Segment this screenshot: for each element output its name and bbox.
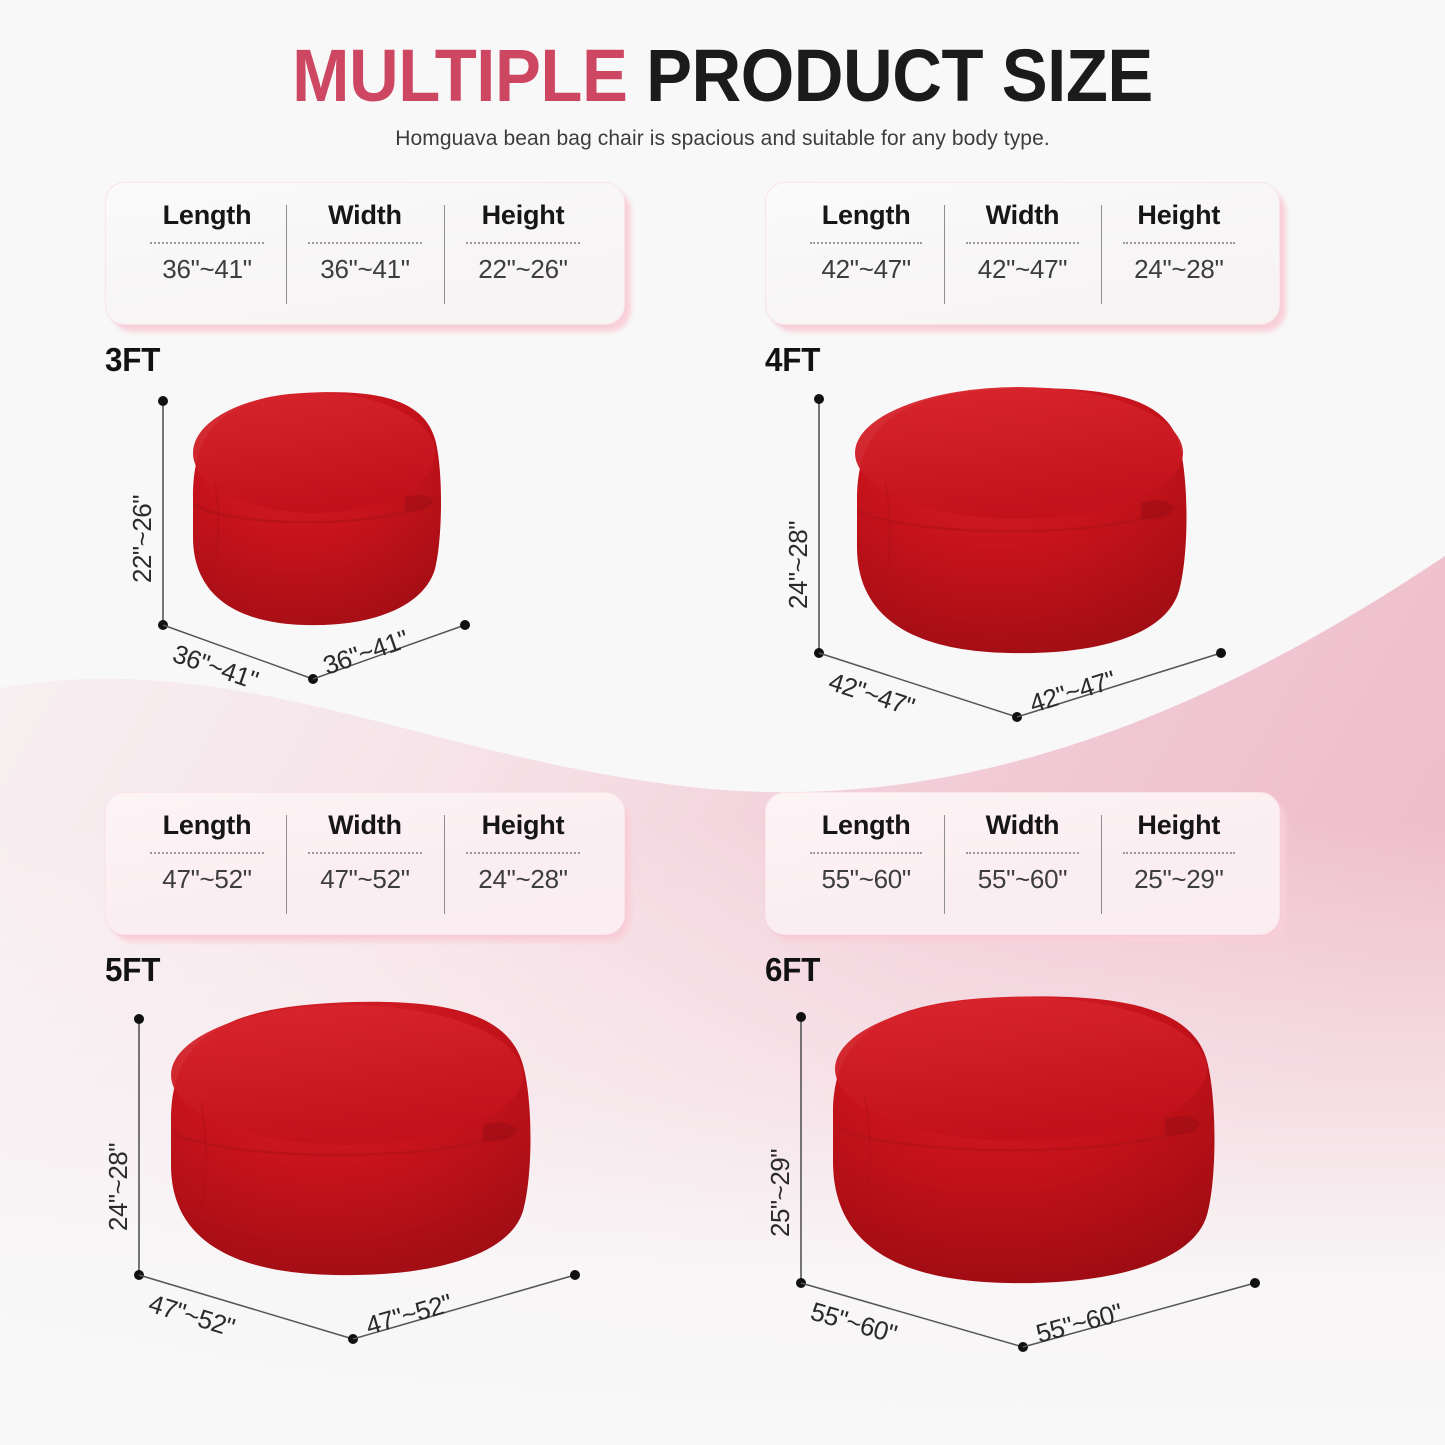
- product-panel-4ft: Length 42"~47" Width 42"~47" Height 24"~…: [765, 182, 1425, 752]
- spec-header-width: Width: [986, 811, 1060, 841]
- spec-header-height: Height: [1137, 811, 1220, 841]
- size-label-3ft: 3FT: [105, 341, 713, 379]
- spec-divider-dotted: [308, 852, 422, 854]
- spec-table-3ft: Length 36"~41" Width 36"~41" Height 22"~…: [105, 182, 625, 325]
- spec-column-height: Height 24"~28": [444, 811, 602, 918]
- dimension-line-width: 55"~60": [1023, 1278, 1260, 1349]
- dimension-label-height: 22"~26": [127, 495, 157, 583]
- spec-header-width: Width: [328, 201, 402, 231]
- spec-column-length: Length 42"~47": [788, 201, 944, 308]
- product-diagram-5ft: 24"~28" 47"~52" 47"~52": [105, 997, 745, 1357]
- dimension-line-width: 42"~47": [1017, 648, 1226, 719]
- spec-header-width: Width: [986, 201, 1060, 231]
- size-label-4ft: 4FT: [765, 341, 1392, 379]
- spec-divider-dotted: [810, 852, 923, 854]
- spec-header-height: Height: [482, 201, 565, 231]
- dimension-line-width: 47"~52": [353, 1270, 580, 1341]
- spec-column-width: Width 55"~60": [944, 811, 1100, 918]
- product-panel-3ft: Length 36"~41" Width 36"~41" Height 22"~…: [105, 182, 745, 742]
- spec-divider-dotted: [1123, 242, 1236, 244]
- spec-column-height: Height 24"~28": [1101, 201, 1257, 308]
- spec-divider-dotted: [308, 242, 422, 244]
- spec-column-width: Width 42"~47": [944, 201, 1100, 308]
- spec-table-card: Length 42"~47" Width 42"~47" Height 24"~…: [765, 182, 1280, 325]
- spec-header-height: Height: [482, 811, 565, 841]
- title-highlight: MULTIPLE: [292, 34, 627, 117]
- dimension-line-height: 25"~29": [765, 1012, 806, 1288]
- spec-divider-dotted: [1123, 852, 1236, 854]
- spec-value-width: 42"~47": [978, 254, 1067, 285]
- spec-table-card: Length 36"~41" Width 36"~41" Height 22"~…: [105, 182, 625, 325]
- spec-value-height: 24"~28": [478, 864, 567, 895]
- spec-column-height: Height 22"~26": [444, 201, 602, 308]
- spec-value-length: 47"~52": [162, 864, 251, 895]
- dimension-label-width: 42"~47": [1026, 664, 1119, 718]
- size-label-6ft: 6FT: [765, 951, 1392, 989]
- spec-column-width: Width 36"~41": [286, 201, 444, 308]
- spec-value-height: 24"~28": [1134, 254, 1223, 285]
- dimension-label-length: 42"~47": [825, 666, 918, 722]
- dimension-line-length: 42"~47": [819, 653, 1022, 722]
- spec-divider-dotted: [466, 242, 580, 244]
- spec-column-width: Width 47"~52": [286, 811, 444, 918]
- spec-value-length: 42"~47": [821, 254, 910, 285]
- spec-column-length: Length 47"~52": [128, 811, 286, 918]
- product-size-infographic: MULTIPLE PRODUCT SIZE Homguava bean bag …: [0, 0, 1445, 1445]
- dimension-label-width: 36"~41": [319, 624, 412, 681]
- dimension-line-length: 55"~60": [801, 1283, 1028, 1352]
- bean-bag-illustration: [171, 1002, 531, 1275]
- spec-table-6ft: Length 55"~60" Width 55"~60" Height 25"~…: [765, 792, 1280, 935]
- spec-value-width: 55"~60": [978, 864, 1067, 895]
- spec-divider-dotted: [966, 852, 1079, 854]
- spec-divider-dotted: [966, 242, 1079, 244]
- spec-value-length: 36"~41": [162, 254, 251, 285]
- spec-header-length: Length: [163, 201, 252, 231]
- page-subtitle: Homguava bean bag chair is spacious and …: [0, 127, 1445, 151]
- bean-bag-illustration: [193, 392, 441, 625]
- dimension-label-length: 47"~52": [145, 1288, 238, 1342]
- product-diagram-6ft: 25"~29" 55"~60" 55"~60": [765, 997, 1425, 1357]
- spec-table-card: Length 47"~52" Width 47"~52" Height 24"~…: [105, 792, 625, 935]
- dimension-label-height: 24"~28": [103, 1143, 133, 1231]
- spec-divider-dotted: [466, 852, 580, 854]
- spec-header-width: Width: [328, 811, 402, 841]
- spec-column-length: Length 36"~41": [128, 201, 286, 308]
- title-rest: PRODUCT SIZE: [646, 34, 1153, 117]
- dimension-label-height: 25"~29": [765, 1149, 795, 1237]
- product-diagram-3ft: 22"~26" 36"~41" 36"~41": [105, 387, 745, 717]
- product-diagram-4ft: 24"~28" 42"~47" 42"~47": [765, 387, 1425, 737]
- dimension-line-length: 47"~52": [139, 1275, 358, 1344]
- bean-bag-illustration: [855, 387, 1187, 653]
- dimension-label-length: 55"~60": [807, 1296, 900, 1349]
- spec-divider-dotted: [150, 242, 264, 244]
- spec-value-length: 55"~60": [821, 864, 910, 895]
- size-label-5ft: 5FT: [105, 951, 713, 989]
- dimension-label-length: 36"~41": [169, 638, 262, 695]
- page-title: MULTIPLE PRODUCT SIZE: [51, 38, 1395, 113]
- spec-table-card: Length 55"~60" Width 55"~60" Height 25"~…: [765, 792, 1280, 935]
- dimension-line-height: 22"~26": [127, 396, 168, 630]
- dimension-label-width: 55"~60": [1033, 1297, 1126, 1349]
- spec-column-length: Length 55"~60": [788, 811, 944, 918]
- spec-divider-dotted: [150, 852, 264, 854]
- dimension-line-width: 36"~41": [313, 620, 470, 681]
- spec-table-4ft: Length 42"~47" Width 42"~47" Height 24"~…: [765, 182, 1280, 325]
- spec-header-length: Length: [163, 811, 252, 841]
- spec-value-width: 47"~52": [320, 864, 409, 895]
- spec-divider-dotted: [810, 242, 923, 244]
- dimension-label-height: 24"~28": [783, 521, 813, 609]
- dimension-line-height: 24"~28": [103, 1014, 144, 1280]
- spec-header-length: Length: [822, 201, 911, 231]
- spec-value-width: 36"~41": [320, 254, 409, 285]
- header: MULTIPLE PRODUCT SIZE Homguava bean bag …: [0, 0, 1445, 151]
- product-panel-6ft: Length 55"~60" Width 55"~60" Height 25"~…: [765, 792, 1425, 1382]
- spec-table-5ft: Length 47"~52" Width 47"~52" Height 24"~…: [105, 792, 625, 935]
- product-panel-5ft: Length 47"~52" Width 47"~52" Height 24"~…: [105, 792, 745, 1382]
- spec-header-length: Length: [822, 811, 911, 841]
- dimension-label-width: 47"~52": [362, 1288, 455, 1341]
- spec-value-height: 25"~29": [1134, 864, 1223, 895]
- dimension-line-height: 24"~28": [783, 394, 824, 658]
- bean-bag-illustration: [833, 996, 1215, 1283]
- spec-header-height: Height: [1137, 201, 1220, 231]
- spec-column-height: Height 25"~29": [1101, 811, 1257, 918]
- spec-value-height: 22"~26": [478, 254, 567, 285]
- dimension-line-length: 36"~41": [163, 625, 318, 695]
